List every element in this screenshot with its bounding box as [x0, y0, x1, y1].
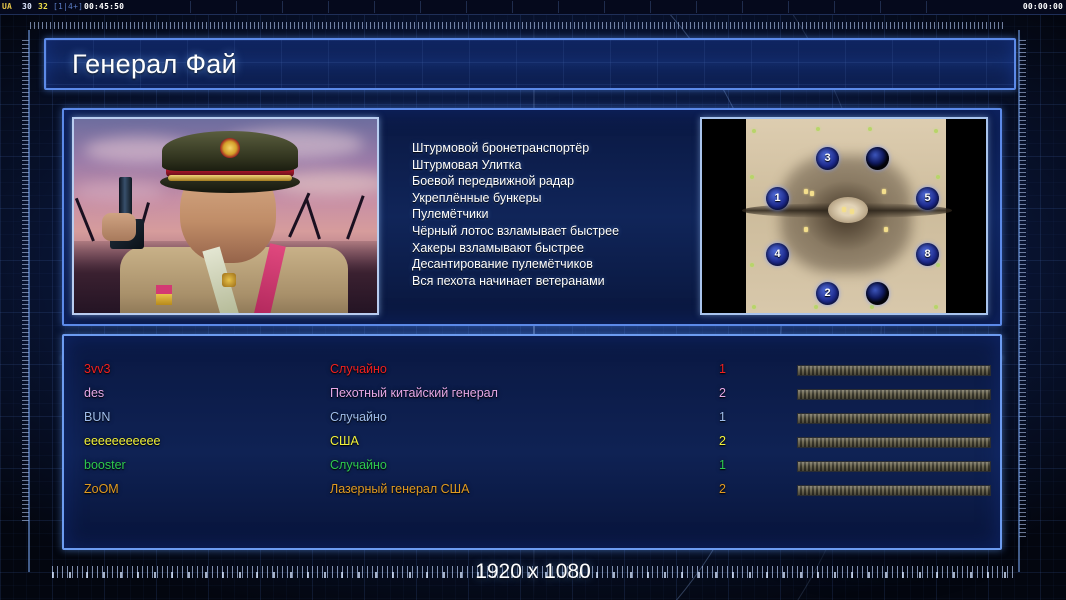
map-start-position[interactable]: 2 [816, 282, 839, 305]
player-team: 1 [719, 458, 726, 472]
ability-item: Хакеры взламывают быстрее [412, 240, 712, 257]
player-team: 1 [719, 410, 726, 424]
general-info-panel: Штурмовой бронетранспортёр Штурмовая Ули… [62, 108, 1002, 326]
frame-ruler-right [1019, 40, 1026, 538]
player-name: 3vv3 [84, 362, 110, 376]
player-rows: 3vv3 Случайно 1 des Пехотный китайский г… [64, 360, 1000, 504]
map-tree-icon [752, 129, 756, 133]
progress-bar-gloss [798, 366, 990, 375]
map-tree-icon [750, 175, 754, 179]
map-start-position[interactable]: 1 [766, 187, 789, 210]
ability-item: Десантирование пулемётчиков [412, 256, 712, 273]
ability-item: Штурмовая Улитка [412, 157, 712, 174]
general-portrait [72, 117, 379, 315]
map-center-clearing [828, 197, 868, 223]
portrait-star-icon [222, 273, 236, 287]
player-name: ZoOM [84, 482, 119, 496]
table-row[interactable]: eeeeeeeeeee США 2 [64, 432, 1000, 456]
map-tree-icon [750, 263, 754, 267]
portrait-cap-cord [168, 175, 292, 181]
ability-item: Пулемётчики [412, 206, 712, 223]
general-abilities-list: Штурмовой бронетранспортёр Штурмовая Ули… [412, 140, 712, 289]
page-title: Генерал Фай [72, 49, 237, 80]
progress-bar-gloss [798, 438, 990, 447]
table-row[interactable]: booster Случайно 1 [64, 456, 1000, 480]
progress-bar-gloss [798, 414, 990, 423]
map-start-position[interactable] [866, 282, 889, 305]
map-tree-icon [814, 305, 818, 309]
ability-item: Штурмовой бронетранспортёр [412, 140, 712, 157]
table-row[interactable]: des Пехотный китайский генерал 2 [64, 384, 1000, 408]
status-value-one: 30 [22, 2, 32, 11]
map-resource-icon [850, 209, 854, 214]
portrait-medal-icon [156, 285, 172, 305]
frame-ruler-top [30, 22, 1004, 29]
title-panel: Генерал Фай [44, 38, 1016, 90]
progress-bar-gloss [798, 462, 990, 471]
map-resource-icon [810, 191, 814, 196]
ability-item: Боевой передвижной радар [412, 173, 712, 190]
map-start-position[interactable]: 5 [916, 187, 939, 210]
progress-bar-gloss [798, 390, 990, 399]
player-team: 2 [719, 434, 726, 448]
map-resource-icon [804, 189, 808, 194]
map-tree-icon [868, 127, 872, 131]
player-name: BUN [84, 410, 110, 424]
player-team: 1 [719, 362, 726, 376]
player-progress-bar [797, 437, 991, 448]
resolution-label: 1920 x 1080 [0, 560, 1066, 584]
player-army: Лазерный генерал США [330, 482, 469, 496]
player-name: booster [84, 458, 126, 472]
status-bar-ticks [190, 1, 971, 13]
status-elapsed-timer: 00:45:50 [84, 2, 124, 11]
map-resource-icon [804, 227, 808, 232]
player-progress-bar [797, 485, 991, 496]
player-army: США [330, 434, 359, 448]
table-row[interactable]: ZoOM Лазерный генерал США 2 [64, 480, 1000, 504]
player-army: Случайно [330, 362, 387, 376]
table-row[interactable]: 3vv3 Случайно 1 [64, 360, 1000, 384]
player-progress-bar [797, 389, 991, 400]
table-row[interactable]: BUN Случайно 1 [64, 408, 1000, 432]
ability-item: Чёрный лотос взламывает быстрее [412, 223, 712, 240]
player-name: des [84, 386, 104, 400]
status-right-timer: 00:00:00 [1023, 2, 1063, 11]
progress-bar-gloss [798, 486, 990, 495]
player-army: Случайно [330, 410, 387, 424]
map-tree-icon [870, 305, 874, 309]
map-resource-icon [842, 207, 846, 212]
map-start-position[interactable] [866, 147, 889, 170]
portrait-hand [102, 213, 136, 241]
map-tree-icon [934, 305, 938, 309]
status-bar: UA 30 32 [1|4+] 00:45:50 00:00:00 [0, 0, 1066, 15]
player-team: 2 [719, 386, 726, 400]
player-list-panel: 3vv3 Случайно 1 des Пехотный китайский г… [62, 334, 1002, 550]
player-army: Случайно [330, 458, 387, 472]
player-name: eeeeeeeeeee [84, 434, 160, 448]
frame-edge-right [1018, 30, 1020, 572]
player-army: Пехотный китайский генерал [330, 386, 498, 400]
player-progress-bar [797, 461, 991, 472]
player-team: 2 [719, 482, 726, 496]
portrait-cap-badge-icon [220, 138, 240, 158]
map-tree-icon [936, 175, 940, 179]
map-resource-icon [882, 189, 886, 194]
map-resource-icon [884, 227, 888, 232]
game-lobby-screen: UA 30 32 [1|4+] 00:45:50 00:00:00 Генера… [0, 0, 1066, 600]
player-progress-bar [797, 413, 991, 424]
map-start-position[interactable]: 4 [766, 243, 789, 266]
map-tree-icon [936, 263, 940, 267]
map-start-position[interactable]: 3 [816, 147, 839, 170]
map-terrain: 3 1 5 4 8 2 [746, 119, 946, 313]
map-start-position[interactable]: 8 [916, 243, 939, 266]
map-preview[interactable]: 3 1 5 4 8 2 [700, 117, 988, 315]
ability-item: Вся пехота начинает ветеранами [412, 273, 712, 290]
status-bracket: [1|4+] [53, 2, 83, 11]
status-value-two: 32 [38, 2, 48, 11]
player-progress-bar [797, 365, 991, 376]
map-tree-icon [752, 305, 756, 309]
map-tree-icon [934, 129, 938, 133]
map-tree-icon [816, 127, 820, 131]
frame-edge-left [28, 30, 30, 572]
status-ua-label: UA [2, 2, 12, 11]
ability-item: Укреплённые бункеры [412, 190, 712, 207]
